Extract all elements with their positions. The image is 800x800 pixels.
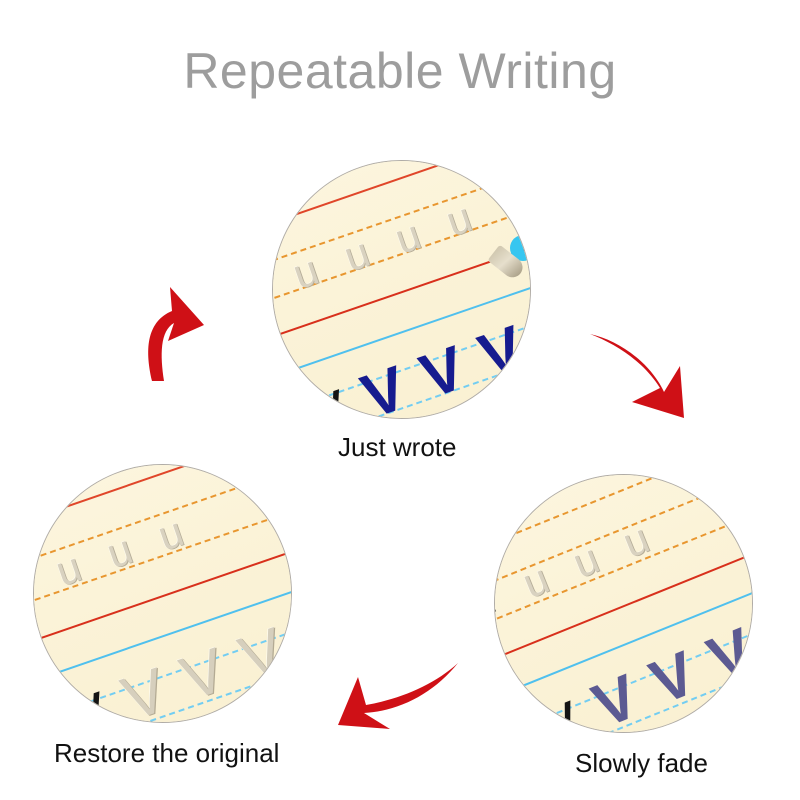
fading-letter-v: V bbox=[585, 665, 647, 733]
traced-letter-u: u bbox=[51, 545, 87, 592]
worksheet-paper: u u u u u V V V V V bbox=[272, 160, 531, 419]
worksheet-paper: 伞 u u u u V V V V V bbox=[494, 474, 753, 733]
infographic-canvas: Repeatable Writing u u u u u V bbox=[0, 0, 800, 800]
page-title: Repeatable Writing bbox=[0, 42, 800, 100]
caption-just-wrote: Just wrote bbox=[338, 432, 457, 463]
traced-letter-u: u bbox=[517, 557, 554, 605]
traced-letter-v: V bbox=[115, 659, 174, 723]
fading-letter-v: V bbox=[642, 642, 704, 715]
worksheet-paper: 伞 u u u u V V V V bbox=[33, 464, 292, 723]
traced-letter-u: u bbox=[567, 537, 604, 585]
caption-restore-the-original: Restore the original bbox=[54, 738, 279, 769]
traced-letter-v: V bbox=[174, 639, 233, 711]
written-letter-v: V bbox=[355, 357, 414, 419]
arrow-just-wrote-to-slowly-fade bbox=[588, 322, 708, 442]
step-photo-just-wrote: u u u u u V V V V V bbox=[272, 160, 531, 419]
sample-letter-u: u bbox=[494, 577, 502, 627]
fading-letter-v: V bbox=[700, 619, 753, 692]
traced-letter-u: u bbox=[102, 528, 138, 575]
traced-letter-u: u bbox=[153, 510, 189, 557]
traced-letter-v: V bbox=[530, 296, 531, 368]
traced-letter-u: u bbox=[288, 248, 324, 295]
caption-slowly-fade: Slowly fade bbox=[575, 748, 708, 779]
step-photo-restore-the-original: 伞 u u u u V V V V bbox=[33, 464, 292, 723]
arrow-restore-to-just-wrote bbox=[130, 285, 214, 383]
traced-letter-u: u bbox=[441, 196, 477, 243]
traced-letter-v: V bbox=[232, 619, 291, 691]
traced-letter-u: u bbox=[390, 213, 426, 260]
sample-letter-v: V bbox=[58, 683, 117, 723]
sample-letter-v: V bbox=[529, 692, 591, 733]
step-photo-slowly-fade: 伞 u u u u V V V V V bbox=[494, 474, 753, 733]
traced-letter-u: u bbox=[617, 517, 654, 565]
traced-letter-u: u bbox=[339, 231, 375, 278]
arrow-slowly-fade-to-restore bbox=[330, 655, 462, 747]
